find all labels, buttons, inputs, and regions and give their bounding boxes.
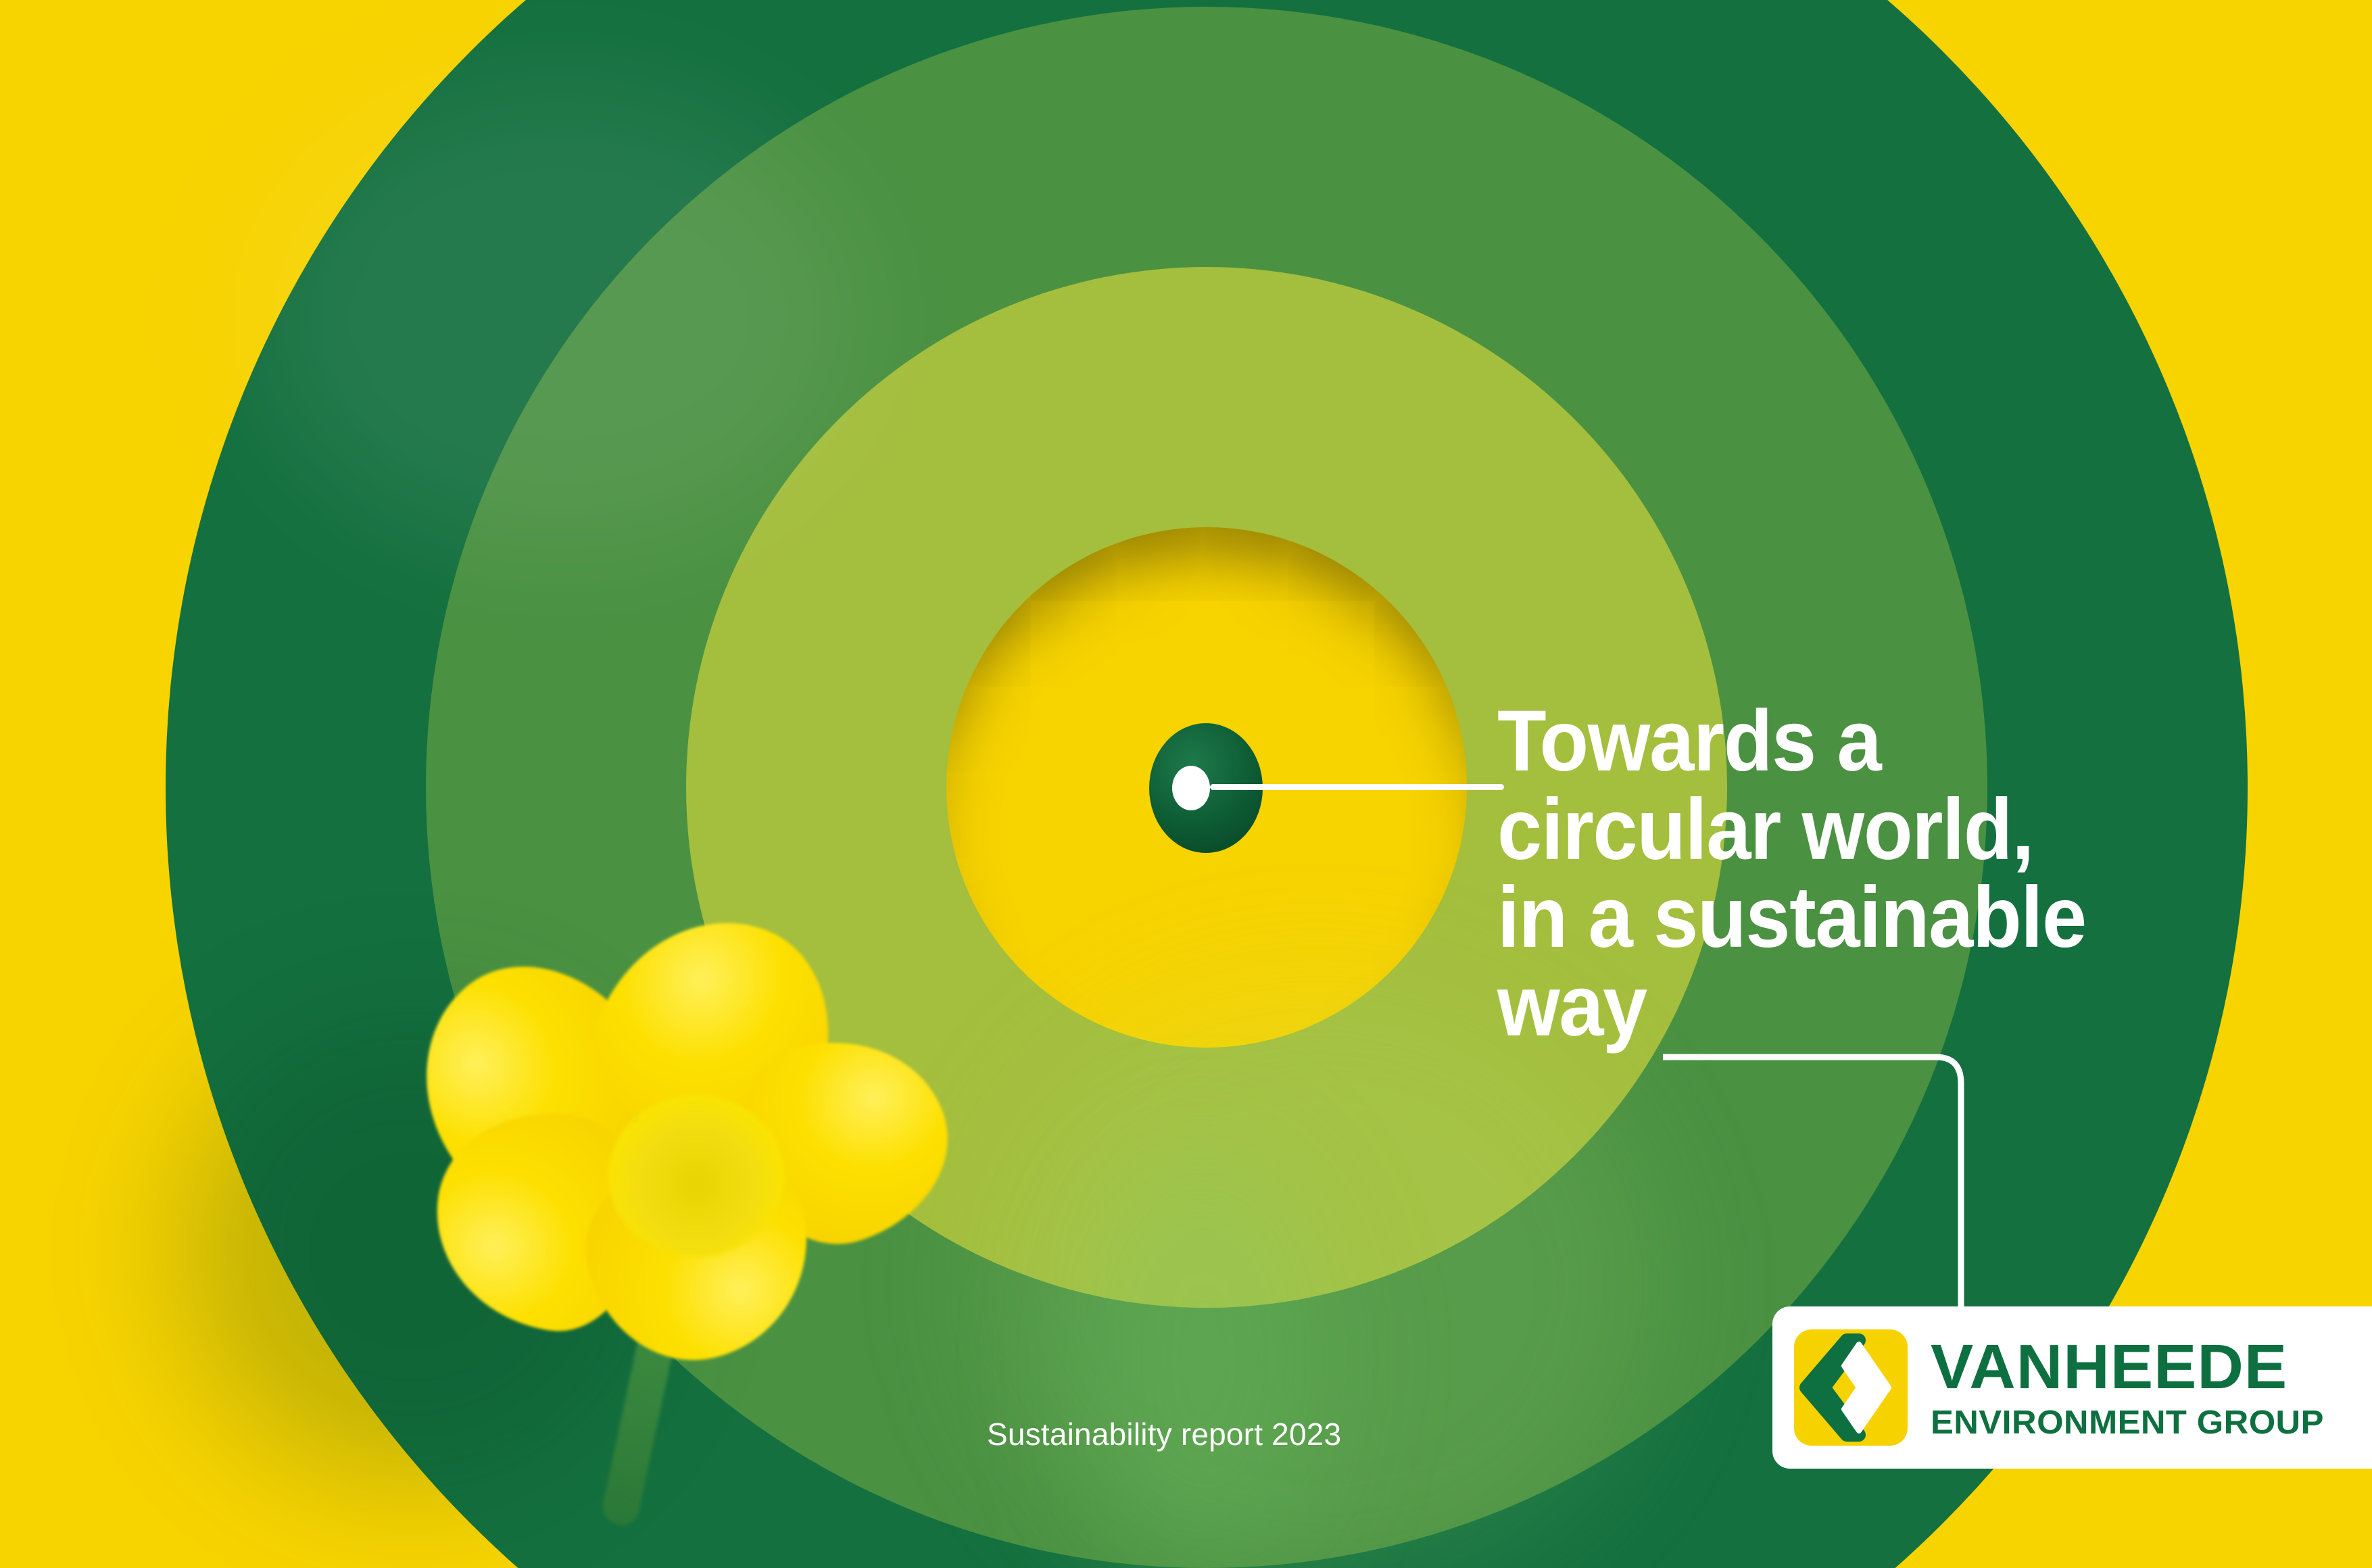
vanheede-chevron-diamond-icon: [1794, 1329, 1908, 1446]
vanheede-logo[interactable]: VANHEEDE ENVIRONMENT GROUP: [1772, 1306, 2372, 1469]
cover-caption: Sustainability report 2023: [987, 1416, 1341, 1452]
report-cover: Towards a circular world, in a sustainab…: [0, 0, 2372, 1568]
logo-text-block: VANHEEDE ENVIRONMENT GROUP: [1931, 1336, 2310, 1440]
logo-wordmark: VANHEEDE: [1931, 1336, 2318, 1398]
page-title: Towards a circular world, in a sustainab…: [1497, 697, 2221, 1050]
logo-tagline: ENVIRONMENT GROUP: [1931, 1406, 2324, 1440]
bullseye-pip-icon: [1172, 766, 1210, 810]
leader-line-icon: [1210, 784, 1504, 790]
